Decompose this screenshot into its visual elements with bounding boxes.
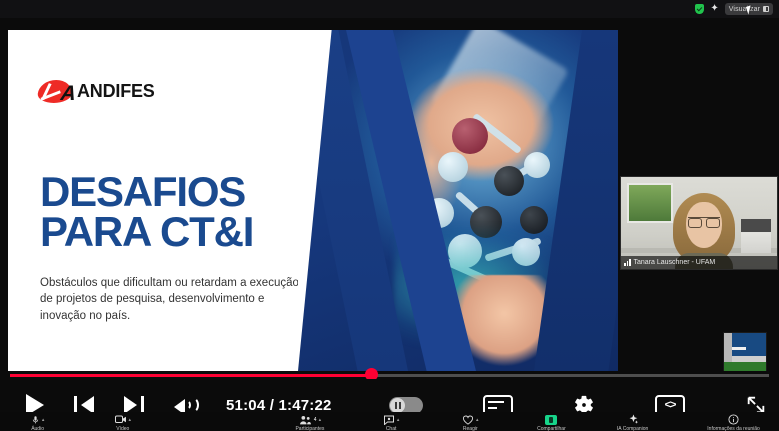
window-view-label: Visualizar bbox=[729, 6, 760, 13]
tile-window bbox=[627, 183, 673, 223]
shield-check-icon[interactable] bbox=[695, 4, 704, 14]
andifes-logo: A ANDIFES bbox=[38, 80, 155, 103]
meet-item-ai-companion[interactable]: IA Companion bbox=[603, 414, 662, 431]
molecule-atom-white bbox=[524, 152, 550, 178]
chevron-up-icon[interactable]: ▴ bbox=[129, 417, 132, 423]
camera-icon: ▴ bbox=[115, 414, 132, 425]
andifes-mark-icon: A bbox=[37, 80, 73, 103]
chevron-up-icon[interactable]: ▴ bbox=[42, 417, 45, 423]
share-screen-icon bbox=[545, 414, 557, 425]
window-layout-icon bbox=[763, 6, 769, 12]
screen: ✦ Visualizar A ANDIFES DESAFIOS PARA CT&… bbox=[0, 0, 779, 431]
figure-glasses bbox=[688, 217, 720, 225]
heart-icon: ▴ bbox=[462, 414, 479, 425]
participant-name-bar: Tanara Lauschner - UFAM bbox=[621, 256, 777, 269]
molecule-atom-black bbox=[494, 166, 524, 196]
headline-line-1: DESAFIOS bbox=[40, 172, 253, 212]
thumbnail-block-white bbox=[732, 347, 746, 350]
thumbnail-block-green bbox=[724, 362, 766, 371]
autoplay-toggle[interactable] bbox=[389, 397, 423, 414]
slide-headline: DESAFIOS PARA CT&I bbox=[40, 172, 253, 252]
os-top-bar: ✦ Visualizar bbox=[0, 0, 779, 18]
autoplay-knob-icon bbox=[390, 398, 405, 413]
andifes-wordmark: ANDIFES bbox=[77, 81, 155, 102]
chevron-up-icon[interactable]: ▴ bbox=[397, 417, 400, 423]
meeting-toolbar: ▴ Áudio ▴ Vídeo 4 ▴ Participantes ▴ Ch bbox=[0, 412, 779, 431]
headline-line-2: PARA CT&I bbox=[40, 212, 253, 252]
participants-count-badge: 4 bbox=[314, 417, 317, 423]
meet-item-audio[interactable]: ▴ Áudio bbox=[8, 414, 67, 431]
slide-thumbnail[interactable] bbox=[723, 332, 767, 371]
shared-slide: A ANDIFES DESAFIOS PARA CT&I Obstáculos … bbox=[8, 30, 618, 371]
meet-item-chat[interactable]: ▴ Chat bbox=[362, 414, 421, 431]
slide-subtitle: Obstáculos que dificultam ou retardam a … bbox=[40, 275, 302, 324]
sparkle-icon[interactable]: ✦ bbox=[710, 4, 718, 14]
sound-wave-2 bbox=[186, 397, 199, 413]
meet-item-label: IA Companion bbox=[617, 426, 648, 431]
meet-item-participants[interactable]: 4 ▴ Participantes bbox=[280, 414, 339, 431]
meet-item-label: Compartilhar bbox=[537, 426, 566, 431]
meet-item-label: Informações da reunião bbox=[707, 426, 760, 431]
andifes-letter-a: A bbox=[59, 82, 77, 106]
tile-printer bbox=[741, 219, 771, 253]
meet-item-label: Áudio bbox=[31, 426, 44, 431]
chevron-up-icon[interactable]: ▴ bbox=[476, 417, 479, 423]
meet-item-label: Chat bbox=[386, 426, 397, 431]
thumbnail-block-blue bbox=[732, 333, 767, 356]
info-icon bbox=[728, 414, 739, 425]
thumbnail-block-gray bbox=[724, 333, 732, 364]
people-icon: 4 ▴ bbox=[299, 414, 321, 425]
progress-played bbox=[10, 374, 371, 377]
meet-item-label: Reagir bbox=[463, 426, 478, 431]
chat-icon: ▴ bbox=[383, 414, 400, 425]
microphone-icon: ▴ bbox=[31, 414, 45, 425]
progress-bar[interactable] bbox=[0, 371, 779, 379]
molecule-atom-white bbox=[438, 152, 468, 182]
meet-item-label: Vídeo bbox=[116, 426, 129, 431]
participant-video-tile[interactable]: Tanara Lauschner - UFAM bbox=[620, 176, 778, 270]
meet-item-react[interactable]: ▴ Reagir bbox=[441, 414, 500, 431]
sparkle-ai-icon bbox=[627, 414, 639, 425]
meet-item-video[interactable]: ▴ Vídeo bbox=[93, 414, 152, 431]
video-stage[interactable]: A ANDIFES DESAFIOS PARA CT&I Obstáculos … bbox=[0, 18, 779, 371]
audio-bars-icon bbox=[624, 259, 631, 266]
meet-item-label: Participantes bbox=[295, 426, 324, 431]
time-display: 51:04 / 1:47:22 bbox=[226, 397, 332, 414]
molecule-atom-red bbox=[452, 118, 488, 154]
chevron-up-icon[interactable]: ▴ bbox=[319, 417, 322, 423]
meet-item-share[interactable]: Compartilhar bbox=[522, 414, 581, 431]
meet-item-info[interactable]: Informações da reunião bbox=[688, 414, 779, 431]
slide-artwork bbox=[298, 30, 618, 371]
participant-name: Tanara Lauschner - UFAM bbox=[634, 259, 716, 266]
